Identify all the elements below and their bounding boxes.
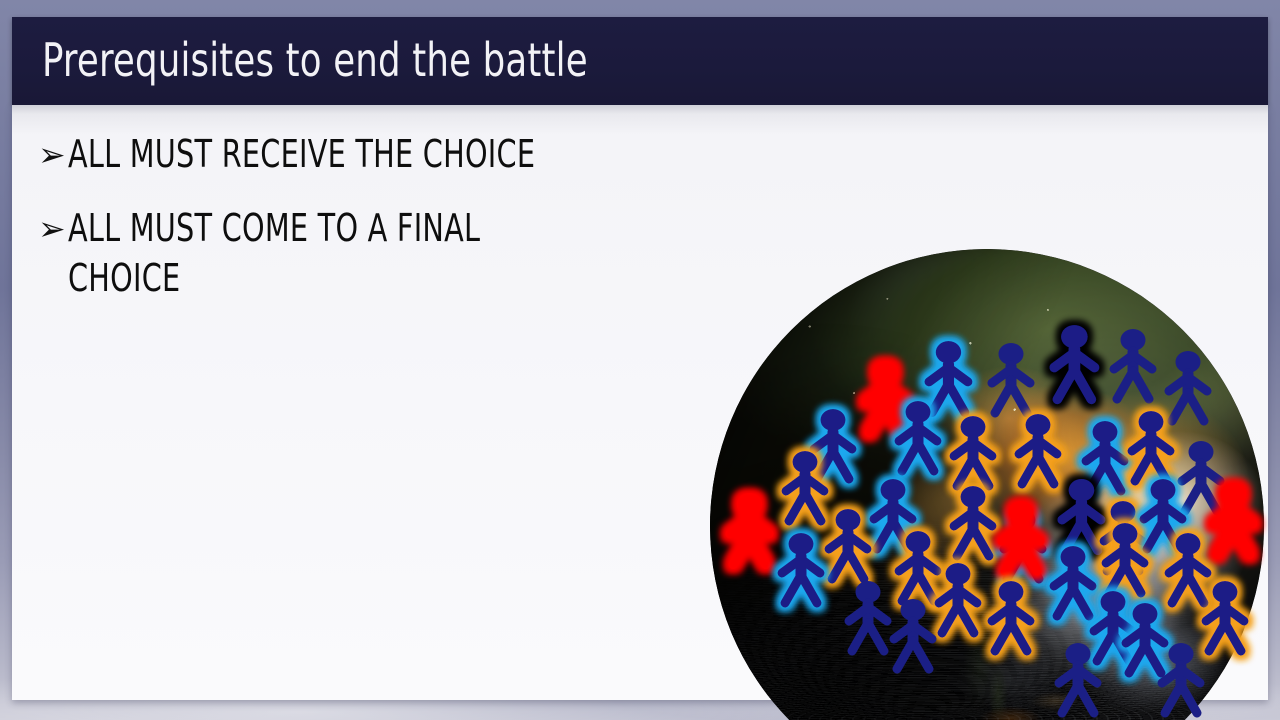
- person-figure-icon: [1015, 412, 1061, 486]
- bullet-text: ALL MUST COME TO A FINAL CHOICE: [68, 203, 480, 303]
- person-figure-icon: [726, 491, 773, 566]
- person-figure-icon: [950, 414, 996, 488]
- person-figure-icon: [845, 579, 891, 653]
- person-figure-icon: [935, 561, 981, 635]
- person-figure-icon: [778, 531, 824, 605]
- person-figure-icon: [1158, 641, 1204, 715]
- person-figure-icon: [1102, 521, 1148, 595]
- globe-with-people-image: [710, 249, 1264, 720]
- person-figure-icon: [1128, 409, 1174, 483]
- person-figure-icon: [1202, 579, 1248, 653]
- slide-title-bar: Prerequisites to end the battle: [12, 17, 1268, 105]
- person-figure-icon: [1110, 327, 1156, 401]
- person-figure-icon: [998, 499, 1044, 573]
- person-figure-icon: [895, 399, 941, 473]
- page-title: Prerequisites to end the battle: [42, 33, 588, 87]
- bullet-list: ➢ ALL MUST RECEIVE THE CHOICE ➢ ALL MUST…: [38, 129, 658, 325]
- person-figure-icon: [988, 341, 1034, 415]
- person-figure-icon: [1210, 481, 1257, 556]
- bullet-arrow-icon: ➢: [38, 203, 68, 255]
- person-figure-icon: [1050, 323, 1099, 401]
- person-figure-icon: [1058, 477, 1105, 552]
- person-figure-icon: [825, 507, 871, 581]
- bullet-arrow-icon: ➢: [38, 129, 68, 181]
- person-figure-icon: [782, 449, 828, 523]
- person-figure-icon: [950, 484, 996, 558]
- list-item: ➢ ALL MUST COME TO A FINAL CHOICE: [38, 203, 658, 303]
- bullet-text: ALL MUST RECEIVE THE CHOICE: [68, 129, 535, 179]
- person-figure-icon: [1055, 641, 1101, 715]
- list-item: ➢ ALL MUST RECEIVE THE CHOICE: [38, 129, 658, 181]
- presentation-slide: Prerequisites to end the battle ➢ ALL MU…: [0, 0, 1280, 720]
- slide-content-panel: ➢ ALL MUST RECEIVE THE CHOICE ➢ ALL MUST…: [12, 105, 1268, 700]
- person-figure-icon: [988, 579, 1034, 653]
- person-figure-icon: [890, 597, 936, 671]
